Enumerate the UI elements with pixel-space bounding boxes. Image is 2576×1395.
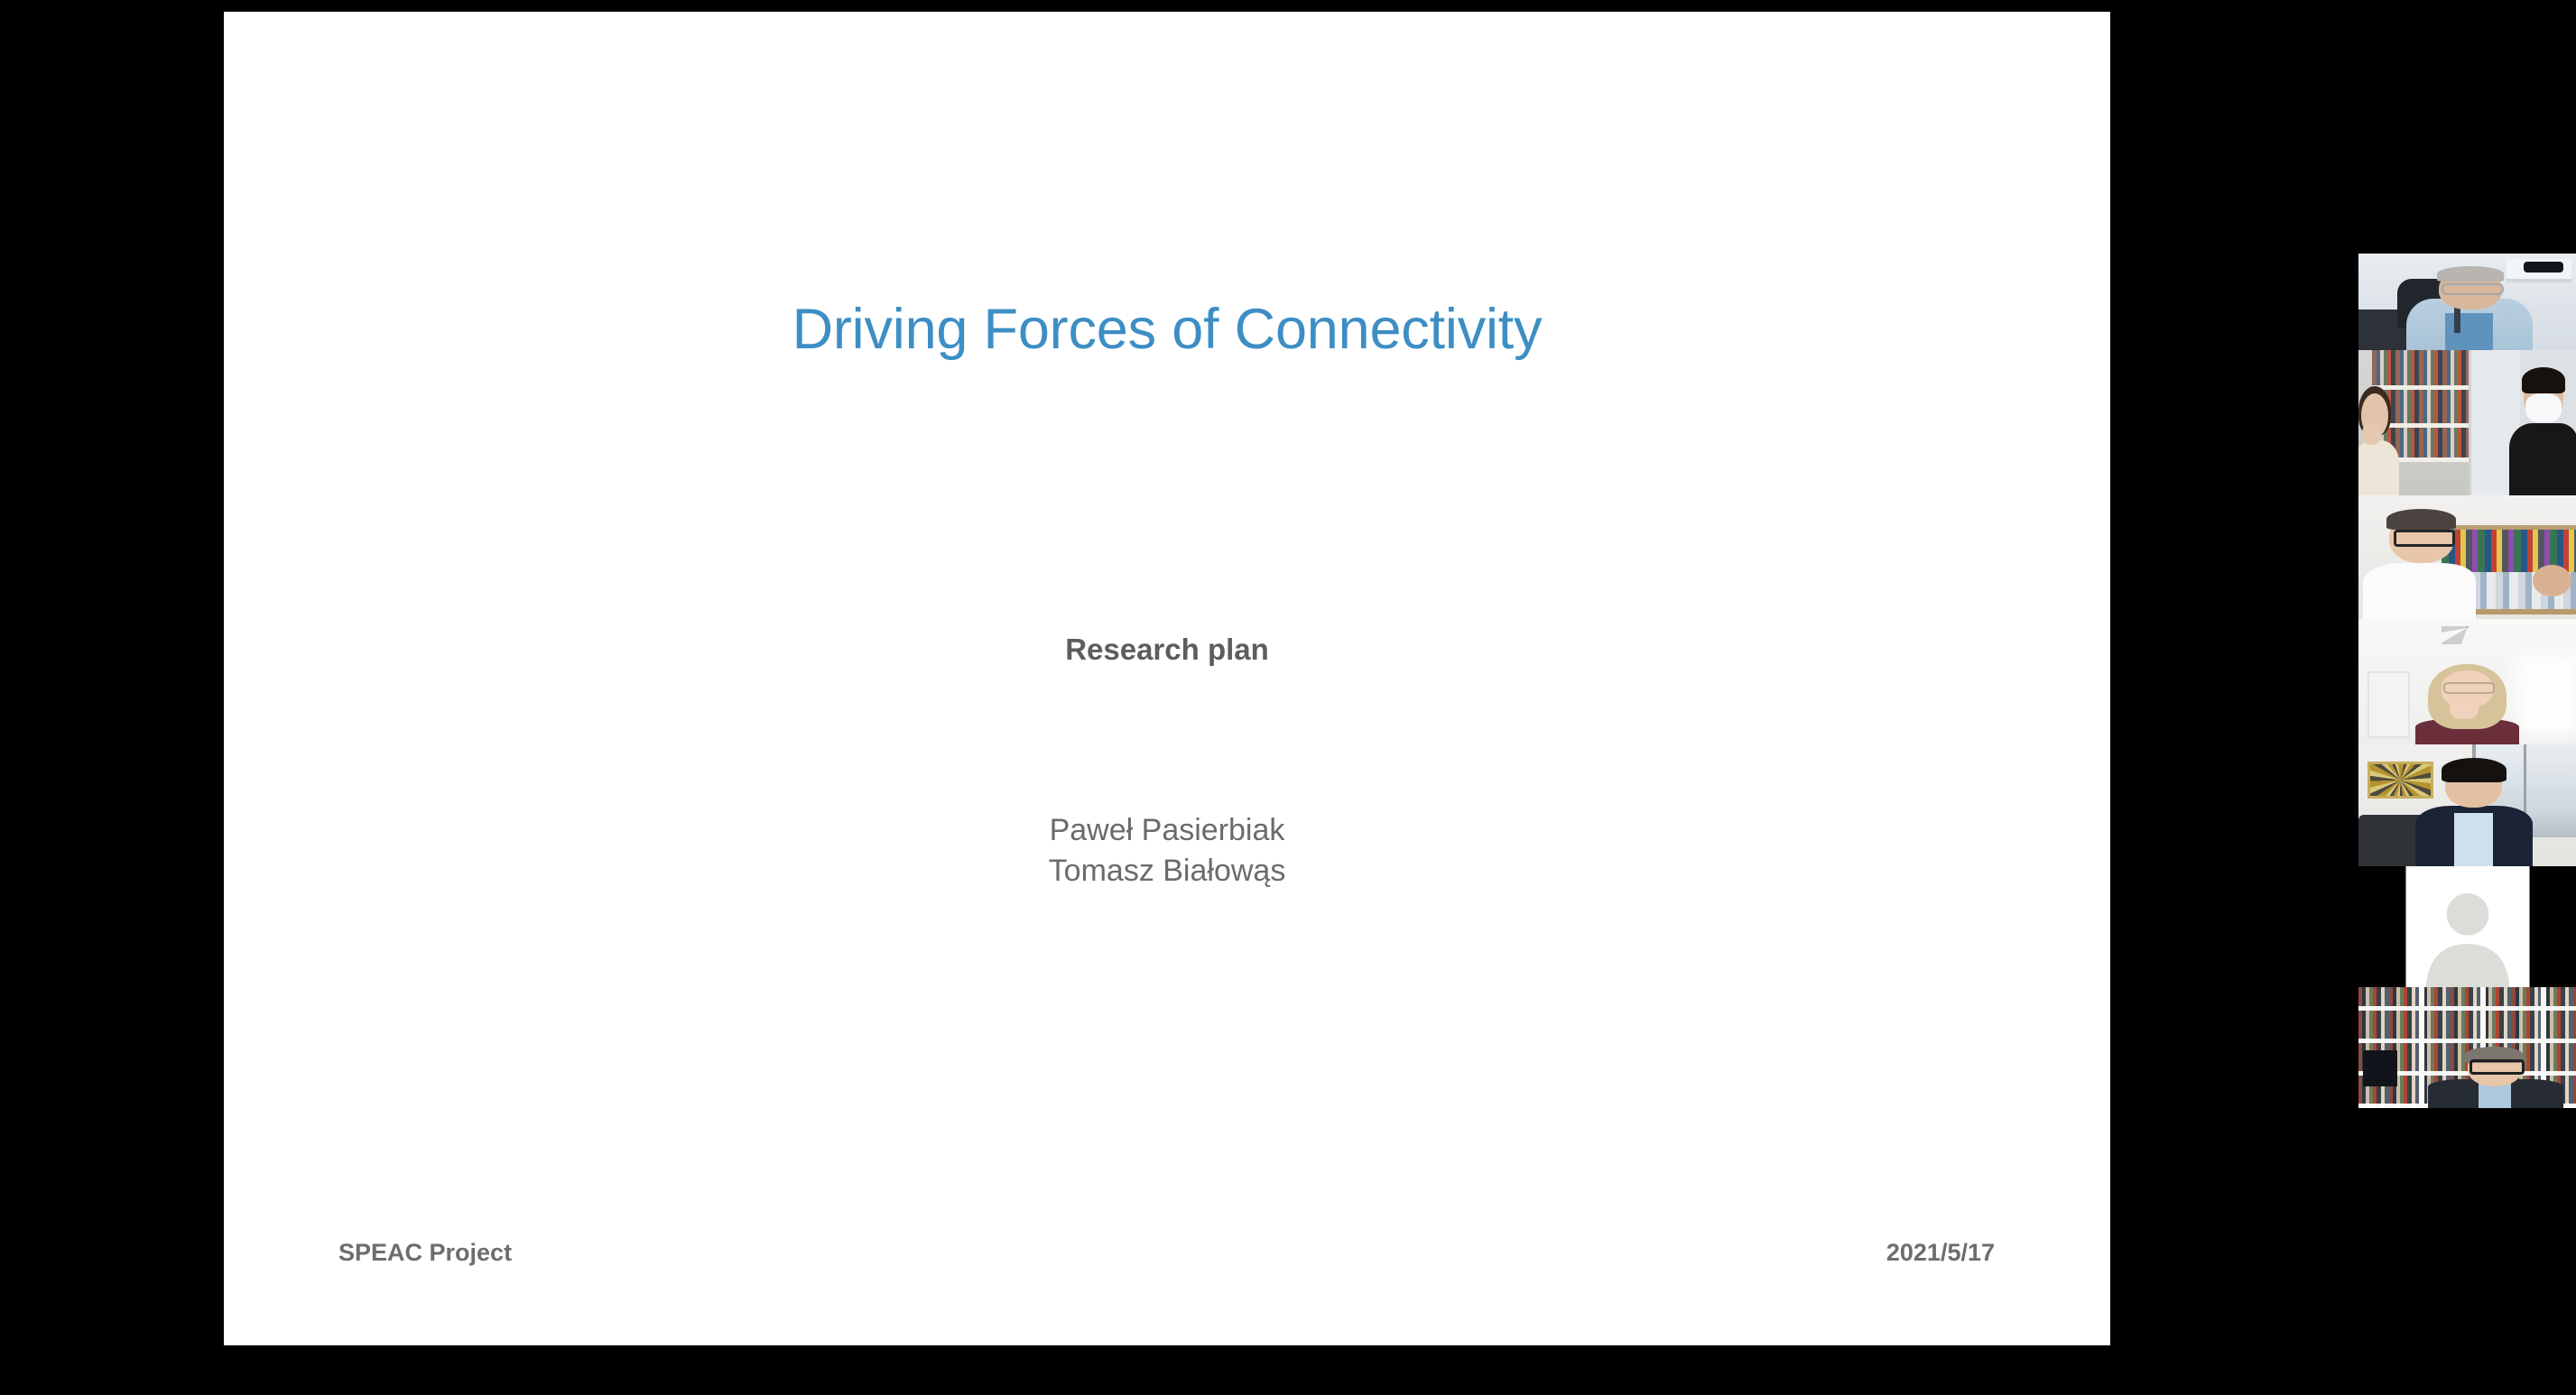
participant-tile-6[interactable] [2358,866,2576,987]
participant-video-4 [2358,619,2576,744]
slide-authors: Paweł Pasierbiak Tomasz Białowąs [224,810,2110,892]
participant-tile-5[interactable] [2358,744,2576,866]
author-name-2: Tomasz Białowąs [224,851,2110,892]
participant-tile-7[interactable] [2358,987,2576,1108]
shared-content-stage[interactable]: Driving Forces of Connectivity Research … [0,0,2340,1395]
presentation-slide[interactable]: Driving Forces of Connectivity Research … [224,12,2110,1345]
slide-title: Driving Forces of Connectivity [224,299,2110,361]
participant-video-7 [2358,987,2576,1108]
participant-tile-3[interactable] [2358,495,2576,619]
participant-tile-4[interactable] [2358,619,2576,744]
participant-video-3 [2358,495,2576,619]
participant-avatar-placeholder-6 [2358,866,2576,987]
slide-subtitle: Research plan [224,633,2110,667]
participant-tile-1[interactable] [2358,254,2576,350]
participant-video-5 [2358,744,2576,866]
footer-project-label: SPEAC Project [338,1239,512,1267]
participant-video-1 [2358,254,2576,350]
screen-share-viewer: Driving Forces of Connectivity Research … [0,0,2576,1395]
participant-filmstrip[interactable] [2340,0,2576,1395]
footer-date-label: 2021/5/17 [1886,1239,1995,1267]
slide-footer: SPEAC Project 2021/5/17 [224,1239,2110,1275]
participant-video-2 [2358,350,2576,495]
author-name-1: Paweł Pasierbiak [224,810,2110,851]
participant-tile-2[interactable] [2358,350,2576,495]
person-avatar-icon [2405,866,2529,987]
